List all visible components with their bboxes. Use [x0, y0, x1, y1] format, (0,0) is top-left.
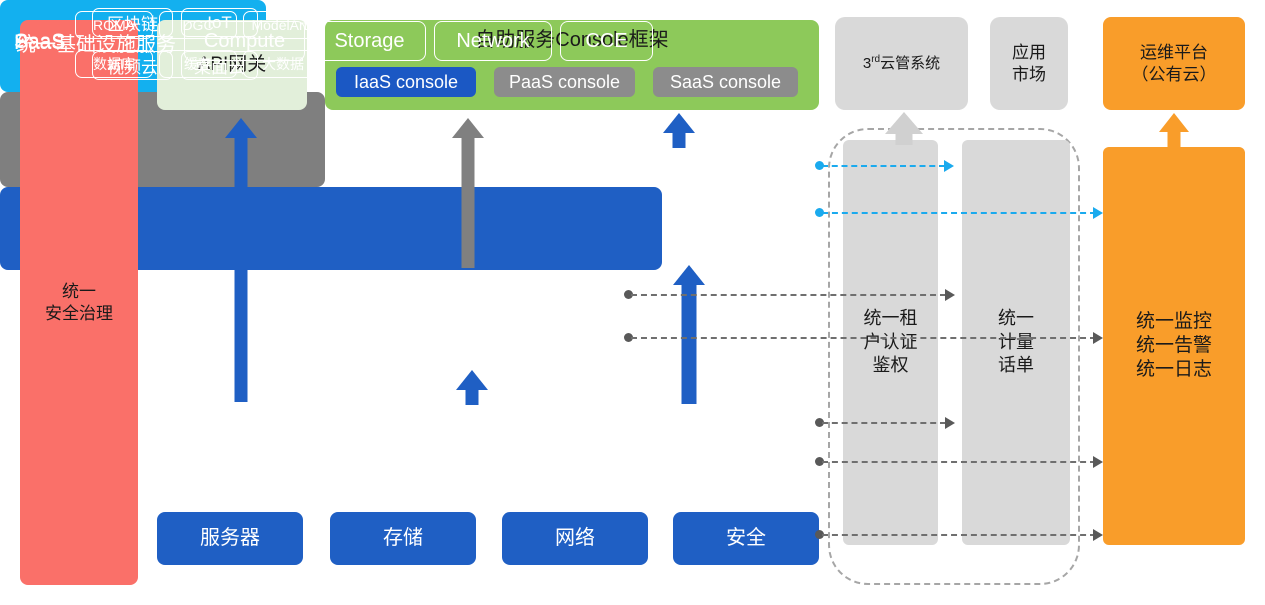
ops-monitoring-line2: 统一告警	[1136, 334, 1212, 358]
unified-metering-line3: 话单	[998, 354, 1034, 377]
security-governance-panel[interactable]: 统一 安全治理	[20, 20, 138, 585]
ops-platform-line2: （公有云）	[1132, 64, 1217, 85]
connector-arrow-hardware-ops	[1093, 529, 1103, 541]
connector-infra-to-ops	[822, 461, 1096, 463]
unified-metering-column[interactable]: 统一 计量 话单	[962, 140, 1070, 545]
arrow-saas-to-console	[663, 113, 695, 148]
arrow-infra-to-paas	[456, 370, 488, 404]
connector-arrow-infra-ops	[1093, 456, 1103, 468]
paas-console-chip[interactable]: PaaS console	[494, 67, 635, 97]
infra-service-compute[interactable]: Compute	[184, 21, 305, 61]
hardware-security-box[interactable]: 安全	[673, 512, 819, 565]
connector-arrow-infra-auth	[945, 417, 955, 429]
connector-arrow-saas-ops	[1093, 207, 1103, 219]
iaas-console-label: IaaS console	[354, 71, 458, 94]
arrow-ops-column-to-ops-platform	[1158, 113, 1190, 149]
ops-monitoring-column[interactable]: 统一监控 统一告警 统一日志	[1103, 147, 1245, 545]
third-party-cloud-box[interactable]: 3rd云管系统	[835, 17, 968, 110]
unified-tenant-auth-line3: 鉴权	[864, 354, 918, 377]
hardware-server-box[interactable]: 服务器	[157, 512, 303, 565]
unified-tenant-auth-line1: 统一租	[864, 307, 918, 330]
hardware-storage-box[interactable]: 存储	[330, 512, 476, 565]
saas-console-label: SaaS console	[670, 71, 781, 94]
unified-metering-line2: 计量	[998, 331, 1034, 354]
arrow-infra-to-saas	[672, 265, 706, 404]
connector-infra-to-auth	[822, 422, 946, 424]
infrastructure-layer-label: 统一基础设施服务	[16, 28, 176, 57]
infra-service-network[interactable]: Network	[434, 21, 552, 61]
saas-console-chip[interactable]: SaaS console	[653, 67, 798, 97]
security-governance-line2: 安全治理	[45, 303, 113, 324]
ops-monitoring-line3: 统一日志	[1136, 358, 1212, 382]
ops-monitoring-line1: 统一监控	[1136, 310, 1212, 334]
ops-platform-box[interactable]: 运维平台 （公有云）	[1103, 17, 1245, 110]
infra-service-cce[interactable]: CCE	[560, 21, 653, 61]
app-market-line1: 应用	[1012, 42, 1046, 63]
connector-saas-to-ops	[822, 212, 1096, 214]
hardware-network-box[interactable]: 网络	[502, 512, 648, 565]
connector-paas-to-auth	[631, 294, 946, 296]
unified-tenant-auth-column[interactable]: 统一租 户认证 鉴权	[843, 140, 938, 545]
connector-arrow-paas-auth	[945, 289, 955, 301]
arrow-paas-to-console	[452, 118, 484, 268]
app-market-box[interactable]: 应用 市场	[990, 17, 1068, 110]
paas-console-label: PaaS console	[509, 71, 620, 94]
third-party-cloud-label: 3rd云管系统	[863, 54, 940, 74]
security-governance-line1: 统一	[45, 281, 113, 302]
connector-arrow-paas-ops	[1093, 332, 1103, 344]
unified-tenant-auth-line2: 户认证	[864, 331, 918, 354]
connector-hardware-to-ops	[822, 534, 1096, 536]
app-market-line2: 市场	[1012, 64, 1046, 85]
connector-paas-to-ops	[631, 337, 1096, 339]
arrow-shared-to-third-party	[884, 112, 924, 144]
iaas-console-chip[interactable]: IaaS console	[336, 67, 476, 97]
connector-saas-to-auth	[822, 165, 945, 167]
infra-service-storage[interactable]: Storage	[313, 21, 426, 61]
ops-platform-line1: 运维平台	[1132, 42, 1217, 63]
arrow-infra-to-api-gateway	[225, 118, 257, 402]
connector-arrow-saas-auth	[944, 160, 954, 172]
architecture-diagram: 统一 安全治理 API网关 自助服务Console框架 IaaS console…	[0, 0, 1265, 605]
unified-metering-line1: 统一	[998, 307, 1034, 330]
